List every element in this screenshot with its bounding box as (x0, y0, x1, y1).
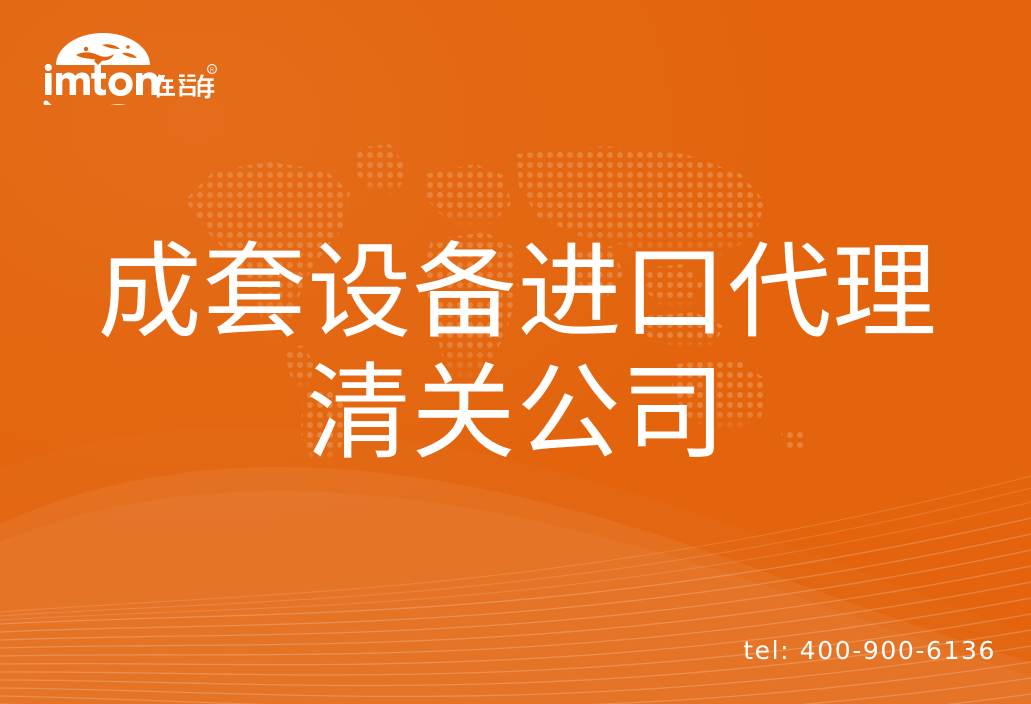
svg-text:R: R (210, 68, 214, 74)
promotional-banner: R 成套设备进口代理 清关公司 tel: 400-900-6136 (0, 0, 1031, 704)
headline-line-2: 清关公司 (2, 353, 1031, 474)
fine-line-striping-decoration (0, 474, 1031, 704)
headline-line-1: 成套设备进口代理 (4, 232, 1031, 353)
world-map-dot-pattern (175, 140, 815, 470)
brand-chinese-text (154, 74, 215, 98)
swoosh-plane-icon (46, 103, 138, 105)
registered-trademark-icon: R (208, 65, 217, 74)
phone-number: tel: 400-900-6136 (743, 636, 996, 665)
imton-wordmark (45, 64, 158, 96)
brand-logo[interactable]: R (42, 27, 217, 105)
globe-arc-icon (56, 33, 150, 65)
headline: 成套设备进口代理 清关公司 (0, 232, 1031, 473)
